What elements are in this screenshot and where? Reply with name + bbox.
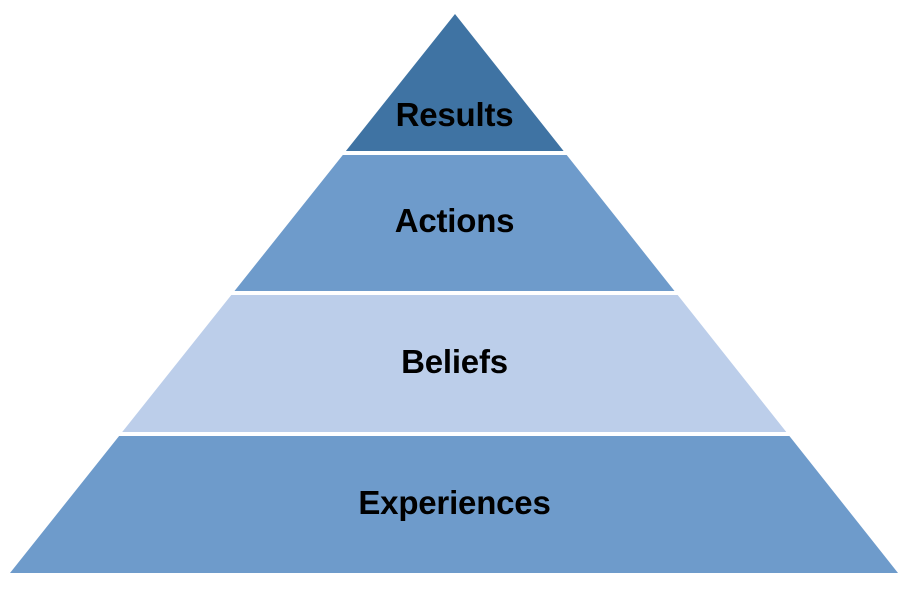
pyramid-tier-3-label: Beliefs bbox=[0, 345, 909, 378]
pyramid-tier-1-label: Results bbox=[0, 98, 909, 131]
pyramid-diagram-canvas: Results Actions Beliefs Experiences bbox=[0, 0, 909, 589]
pyramid-tier-4-label: Experiences bbox=[0, 486, 909, 519]
pyramid-tier-2-label: Actions bbox=[0, 204, 909, 237]
